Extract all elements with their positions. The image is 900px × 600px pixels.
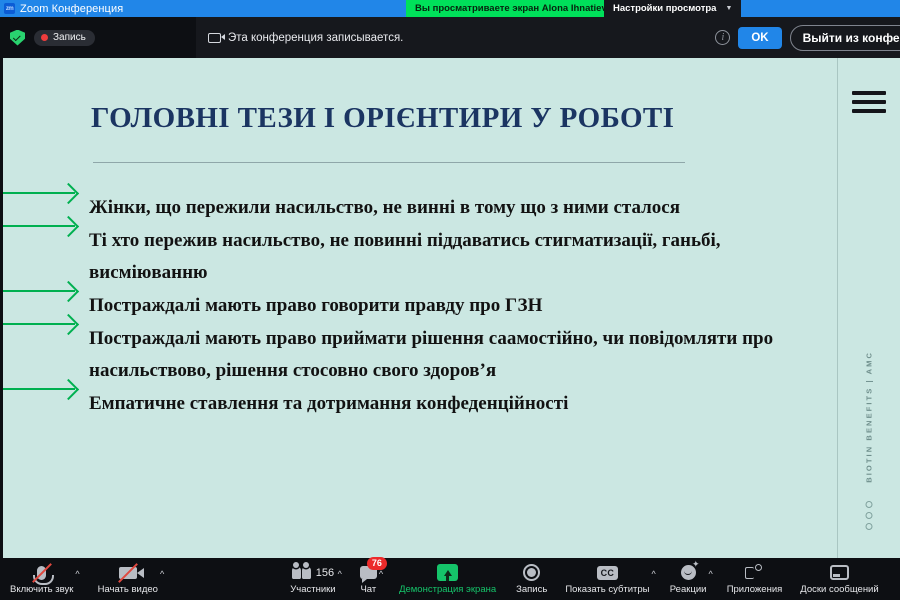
leave-meeting-button[interactable]: Выйти из конференции [790, 25, 900, 51]
toolbar-item-chat[interactable]: 76 Чат [360, 558, 377, 600]
video-recording-icon [208, 33, 221, 43]
toolbar-item-captions[interactable]: CC Показать субтитры [565, 558, 649, 600]
chat-unread-badge: 76 [367, 557, 387, 570]
audio-options-chevron-icon[interactable]: ^ [73, 569, 81, 579]
toolbar-item-mute[interactable]: Включить звук [10, 558, 73, 600]
zoom-logo-icon: zm [4, 3, 15, 14]
toolbar-label: Чат [360, 584, 376, 595]
screen-share-banner-label: Вы просматриваете экран Alona Ihnatieva [415, 3, 612, 14]
view-settings-label: Настройки просмотра [613, 3, 716, 14]
slide-content: ГОЛОВНІ ТЕЗИ І ОРІЄНТИРИ У РОБОТІ Жінки,… [3, 58, 837, 558]
hamburger-menu-icon[interactable] [852, 91, 886, 113]
slide-side-rail: BIOTIN BENEFITS | AMC [838, 58, 900, 558]
view-settings-dropdown[interactable]: Настройки просмотра ▼ [604, 0, 741, 17]
toolbar-item-whiteboards[interactable]: Доски сообщений [800, 558, 878, 600]
toolbar-label: Доски сообщений [800, 584, 878, 595]
bullet-text: Жінки, що пережили насильство, не винні … [89, 192, 805, 225]
participants-chevron-icon[interactable]: ^ [336, 569, 344, 579]
share-screen-icon [437, 563, 458, 582]
info-icon[interactable]: i [715, 30, 730, 45]
window-title: Zoom Конференция [20, 3, 123, 15]
recording-status-panel: Запись [0, 17, 196, 58]
video-options-chevron-icon[interactable]: ^ [158, 569, 166, 579]
title-divider [93, 162, 685, 163]
reactions-chevron-icon[interactable]: ^ [706, 569, 714, 579]
toolbar-label: Участники [290, 584, 335, 595]
apps-icon [745, 563, 763, 582]
toolbar-label: Включить звук [10, 584, 73, 595]
dot-icon [866, 501, 873, 508]
slide-bullet-list: Жінки, що пережили насильство, не винні … [3, 192, 837, 421]
screen-share-banner: Вы просматриваете экран Alona Ihnatieva [406, 0, 621, 17]
toolbar-item-apps[interactable]: Приложения [727, 558, 783, 600]
toolbar-item-reactions[interactable]: Реакции [670, 558, 707, 600]
bullet-text: Емпатичне ставлення та дотримання конфед… [89, 388, 805, 421]
camera-off-icon [119, 563, 137, 582]
whiteboard-icon [830, 563, 849, 582]
recording-notice-text: Эта конференция записывается. [228, 32, 403, 44]
toolbar-label: Запись [516, 584, 547, 595]
chat-bubble-icon: 76 [360, 563, 377, 582]
closed-caption-icon: CC [597, 563, 619, 582]
toolbar-label: Показать субтитры [565, 584, 649, 595]
shield-icon[interactable] [10, 30, 25, 46]
recording-indicator-label: Запись [53, 32, 86, 43]
arrow-right-icon [3, 225, 75, 227]
toolbar-label: Реакции [670, 584, 707, 595]
toolbar-label: Демонстрация экрана [399, 584, 496, 595]
list-item: Постраждалі мають право говорити правду … [3, 290, 837, 323]
record-icon [523, 563, 540, 582]
bullet-text: Постраждалі мають право говорити правду … [89, 290, 805, 323]
captions-chevron-icon[interactable]: ^ [650, 569, 658, 579]
dot-icon [866, 523, 873, 530]
toolbar-item-share-screen[interactable]: Демонстрация экрана [399, 558, 496, 600]
presentation-slide: ГОЛОВНІ ТЕЗИ І ОРІЄНТИРИ У РОБОТІ Жінки,… [3, 58, 900, 558]
toolbar-item-video[interactable]: Начать видео [98, 558, 158, 600]
chat-chevron-icon[interactable]: ^ [377, 569, 385, 579]
list-item: Ті хто пережив насильство, не повинні пі… [3, 225, 837, 290]
slide-rail-label: BIOTIN BENEFITS | AMC [865, 351, 874, 483]
recording-indicator[interactable]: Запись [34, 30, 95, 46]
chevron-down-icon: ▼ [725, 5, 732, 12]
reactions-icon [681, 563, 696, 582]
recording-actions: i OK Выйти из конференции [715, 17, 900, 58]
bullet-text: Ті хто пережив насильство, не повинні пі… [89, 225, 805, 290]
list-item: Постраждалі мають право приймати рішення… [3, 323, 837, 388]
arrow-right-icon [3, 388, 75, 390]
shared-screen-stage[interactable]: ГОЛОВНІ ТЕЗИ І ОРІЄНТИРИ У РОБОТІ Жінки,… [0, 58, 900, 558]
people-icon: 156 [292, 563, 334, 582]
recording-notification-bar: Запись Эта конференция записывается. i O… [0, 17, 900, 58]
toolbar-label: Приложения [727, 584, 783, 595]
dot-icon [866, 512, 873, 519]
ok-button[interactable]: OK [738, 27, 781, 49]
zoom-meeting-window: zm Zoom Конференция Вы просматриваете эк… [0, 0, 900, 600]
toolbar-label: Начать видео [98, 584, 158, 595]
arrow-right-icon [3, 323, 75, 325]
arrow-right-icon [3, 192, 75, 194]
slide-rail-dots [866, 501, 873, 530]
toolbar-item-participants[interactable]: 156 Участники [290, 558, 335, 600]
participants-count: 156 [316, 567, 334, 579]
list-item: Жінки, що пережили насильство, не винні … [3, 192, 837, 225]
microphone-muted-icon [37, 563, 46, 582]
bullet-text: Постраждалі мають право приймати рішення… [89, 323, 805, 388]
toolbar-item-record[interactable]: Запись [516, 558, 547, 600]
meeting-toolbar: Включить звук ^ Начать видео ^ 156 Участ… [0, 558, 900, 600]
list-item: Емпатичне ставлення та дотримання конфед… [3, 388, 837, 421]
record-dot-icon [41, 34, 48, 41]
arrow-right-icon [3, 290, 75, 292]
slide-title: ГОЛОВНІ ТЕЗИ І ОРІЄНТИРИ У РОБОТІ [91, 102, 791, 135]
